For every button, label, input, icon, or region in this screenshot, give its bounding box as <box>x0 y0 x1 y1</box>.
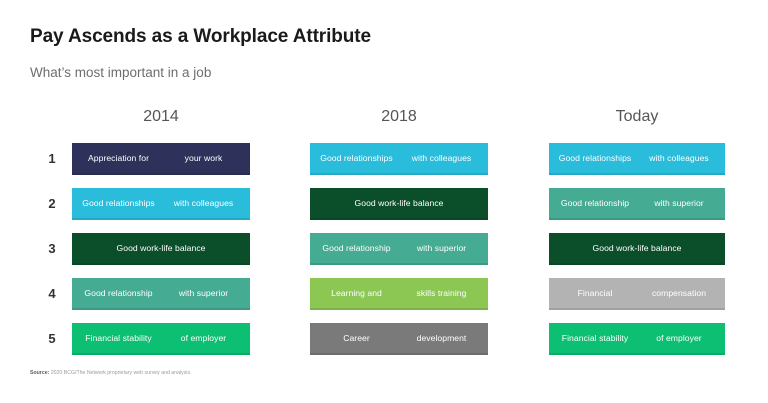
source-note: Source: 2020 BCG/The Network proprietary… <box>30 370 192 376</box>
bar-label: of employer <box>637 333 721 344</box>
ranking-row: 5 Financial stability of employer Career… <box>0 323 768 368</box>
bar-label: Good relationships <box>553 153 637 164</box>
rank-number: 2 <box>44 196 60 211</box>
bar-2018-rank3[interactable]: Good relationship with superior <box>310 233 488 265</box>
bar-label: Good relationship <box>314 243 399 254</box>
bar-label: Financial stability <box>76 333 161 344</box>
ranking-row: 1 Appreciation for your work Good relati… <box>0 143 768 188</box>
bar-2014-rank1[interactable]: Appreciation for your work <box>72 143 250 175</box>
bar-label: with superior <box>161 288 246 299</box>
bar-label: Good work-life balance <box>553 243 721 254</box>
bar-2018-rank2[interactable]: Good work-life balance <box>310 188 488 220</box>
bar-today-rank1[interactable]: Good relationships with colleagues <box>549 143 725 175</box>
bar-label: Good relationships <box>314 153 399 164</box>
ranking-grid: 1 Appreciation for your work Good relati… <box>0 143 768 368</box>
page-title: Pay Ascends as a Workplace Attribute <box>30 26 371 48</box>
column-headers: 2014 2018 Today <box>0 108 768 138</box>
bar-2018-rank5[interactable]: Career development <box>310 323 488 355</box>
bar-label: Good work-life balance <box>314 198 484 209</box>
bar-label: skills training <box>399 288 484 299</box>
rank-number: 1 <box>44 151 60 166</box>
bar-label: Financial <box>553 288 637 299</box>
bar-label: Good relationship <box>553 198 637 209</box>
bar-label: Learning and <box>314 288 399 299</box>
rank-number: 4 <box>44 286 60 301</box>
rank-number: 3 <box>44 241 60 256</box>
column-header-2018: 2018 <box>310 108 488 126</box>
bar-today-rank2[interactable]: Good relationship with superior <box>549 188 725 220</box>
ranking-row: 3 Good work-life balance Good relationsh… <box>0 233 768 278</box>
bar-label: with superior <box>399 243 484 254</box>
bar-label: Good relationships <box>76 198 161 209</box>
bar-label: with superior <box>637 198 721 209</box>
column-header-2014: 2014 <box>72 108 250 126</box>
bar-2018-rank1[interactable]: Good relationships with colleagues <box>310 143 488 175</box>
bar-label: Financial stability <box>553 333 637 344</box>
rank-number: 5 <box>44 331 60 346</box>
column-header-today: Today <box>549 108 725 126</box>
bar-label: Good relationship <box>76 288 161 299</box>
bar-label: Good work-life balance <box>76 243 246 254</box>
bar-label: with colleagues <box>161 198 246 209</box>
source-prefix: Source: <box>30 370 49 376</box>
bar-today-rank3[interactable]: Good work-life balance <box>549 233 725 265</box>
bar-2014-rank4[interactable]: Good relationship with superior <box>72 278 250 310</box>
ranking-row: 4 Good relationship with superior Learni… <box>0 278 768 323</box>
bar-2014-rank5[interactable]: Financial stability of employer <box>72 323 250 355</box>
bar-today-rank4[interactable]: Financial compensation <box>549 278 725 310</box>
bar-label: of employer <box>161 333 246 344</box>
bar-2014-rank3[interactable]: Good work-life balance <box>72 233 250 265</box>
bar-2014-rank2[interactable]: Good relationships with colleagues <box>72 188 250 220</box>
slide-canvas: Pay Ascends as a Workplace Attribute Wha… <box>0 0 768 403</box>
bar-label: Career <box>314 333 399 344</box>
bar-label: with colleagues <box>637 153 721 164</box>
bar-label: your work <box>161 153 246 164</box>
bar-label: with colleagues <box>399 153 484 164</box>
bar-label: development <box>399 333 484 344</box>
bar-today-rank5[interactable]: Financial stability of employer <box>549 323 725 355</box>
bar-label: Appreciation for <box>76 153 161 164</box>
source-text: 2020 BCG/The Network proprietary web sur… <box>51 370 192 376</box>
ranking-row: 2 Good relationships with colleagues Goo… <box>0 188 768 233</box>
bar-2018-rank4[interactable]: Learning and skills training <box>310 278 488 310</box>
bar-label: compensation <box>637 288 721 299</box>
page-subtitle: What’s most important in a job <box>30 65 211 80</box>
